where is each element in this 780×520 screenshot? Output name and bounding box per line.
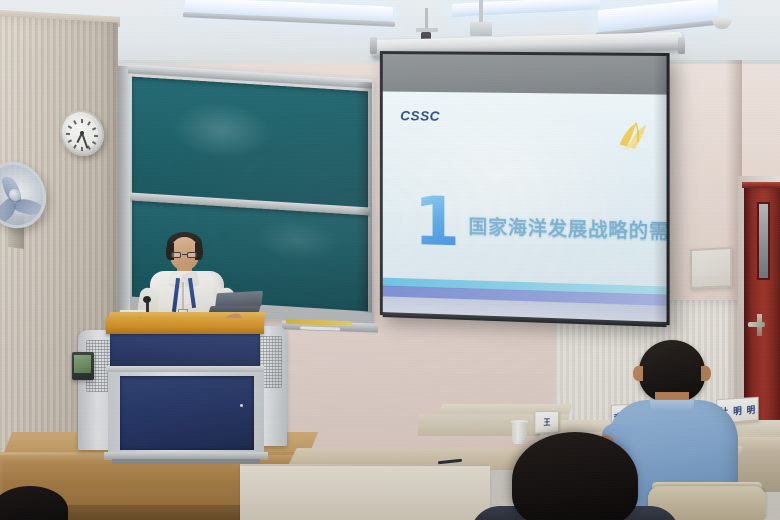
screen-roller-mount bbox=[470, 22, 492, 36]
screen-roller-endcap-left bbox=[370, 37, 377, 54]
screen-masking-band bbox=[383, 54, 667, 95]
clock-tick bbox=[81, 147, 83, 151]
door-handle-icon[interactable] bbox=[748, 322, 765, 327]
projector-mount-rod bbox=[425, 8, 428, 30]
lecture-hall-photo: CSSC 1 国家海洋发展战略的需要 bbox=[0, 0, 780, 520]
presentation-slide: CSSC 1 国家海洋发展战略的需要 bbox=[383, 91, 667, 322]
clock-tick bbox=[94, 135, 98, 137]
name-placard-text: 王 bbox=[544, 416, 551, 427]
eyeglass-lens-right bbox=[187, 252, 197, 258]
screen-roller-endcap-right bbox=[678, 37, 685, 54]
clock-tick bbox=[73, 144, 77, 148]
attendee-foreground-head bbox=[512, 432, 638, 520]
blackboard-surface-upper bbox=[132, 77, 368, 212]
clock-tick bbox=[92, 127, 96, 131]
slide-logo-cssc: CSSC bbox=[400, 107, 440, 123]
name-placard: 王 bbox=[534, 411, 558, 434]
clock-tick bbox=[92, 141, 96, 145]
blackboard-left-edge bbox=[118, 66, 130, 323]
eyeglass-lens-left bbox=[171, 252, 181, 258]
desk-front-row-front bbox=[240, 466, 490, 520]
clock-tick bbox=[66, 133, 70, 135]
lectern-front-panel bbox=[120, 376, 254, 450]
clock-tick bbox=[68, 139, 72, 143]
clock-tick bbox=[68, 125, 72, 129]
fan-hub bbox=[9, 188, 21, 201]
paper-cup-icon bbox=[512, 422, 527, 444]
control-monitor-screen bbox=[74, 355, 91, 373]
clock-tick bbox=[87, 121, 91, 125]
wall-notice-board-icon bbox=[690, 247, 732, 289]
attendee-blue-shirt-collar bbox=[650, 400, 694, 413]
yellow-brush-ribbon-icon bbox=[613, 120, 652, 151]
lectern-panel-latch-icon[interactable] bbox=[240, 404, 243, 407]
lectern-top-trim bbox=[106, 318, 264, 334]
eyeglasses-icon bbox=[171, 252, 198, 258]
clock-center-pin bbox=[80, 131, 84, 135]
attendee-ear-right bbox=[701, 366, 711, 381]
lectern-upper-panel bbox=[110, 334, 260, 366]
clock-face bbox=[66, 115, 98, 151]
eyeglass-bridge bbox=[182, 254, 187, 255]
lectern-foot bbox=[112, 459, 260, 464]
slide-section-number: 1 bbox=[414, 193, 460, 254]
microphone-icon bbox=[143, 296, 151, 303]
slide-title: 国家海洋发展战略的需要 bbox=[469, 212, 667, 245]
blackboard-right-shadow bbox=[356, 81, 372, 312]
clock-tick bbox=[81, 119, 83, 123]
attendee-ear-left bbox=[633, 366, 643, 381]
projection-screen: CSSC 1 国家海洋发展战略的需要 bbox=[380, 51, 670, 325]
door-vision-panel bbox=[757, 202, 770, 280]
clock-tick bbox=[73, 120, 77, 124]
door-top-trim bbox=[742, 182, 780, 188]
